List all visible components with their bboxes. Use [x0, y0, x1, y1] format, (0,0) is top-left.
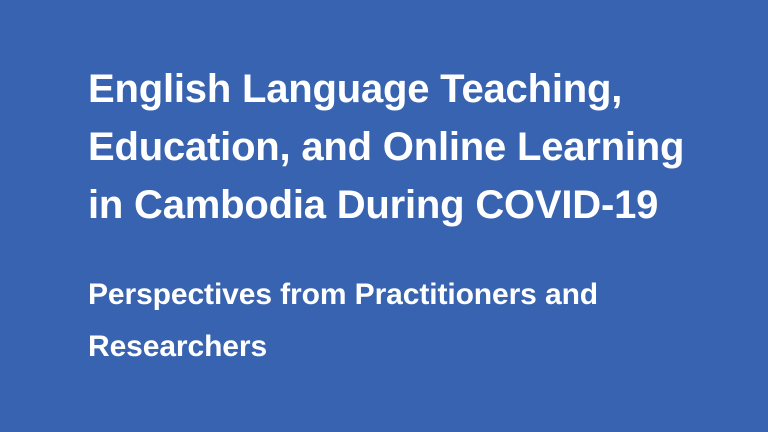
title-line-2: Education, and Online Learning — [88, 118, 708, 176]
title-line-3: in Cambodia During COVID-19 — [88, 176, 708, 234]
title-line-1: English Language Teaching, — [88, 60, 708, 118]
page-subtitle: Perspectives from Practitioners and Rese… — [88, 269, 708, 373]
subtitle-line-2: Researchers — [88, 321, 708, 373]
title-slide-content: English Language Teaching, Education, an… — [88, 60, 708, 373]
page-title: English Language Teaching, Education, an… — [88, 60, 708, 234]
subtitle-line-1: Perspectives from Practitioners and — [88, 269, 708, 321]
title-slide: English Language Teaching, Education, an… — [0, 0, 768, 432]
